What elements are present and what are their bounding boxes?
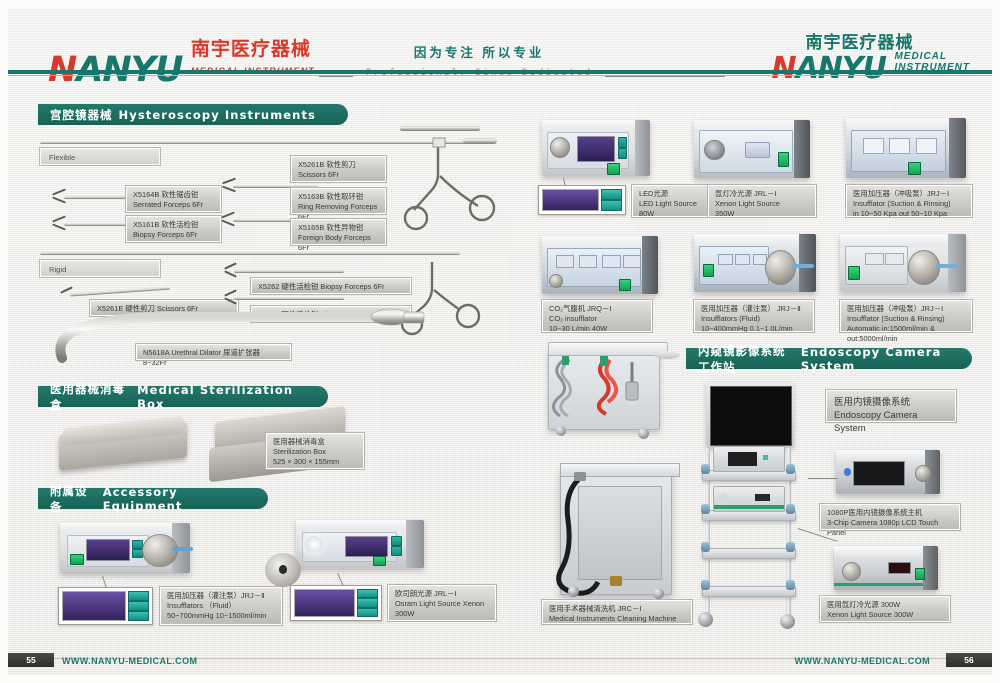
label-insuff-suction1-spec: in 10~50 Kpa out 50~10 Kpa bbox=[853, 209, 965, 219]
label-osram-cn: 欧司朗光源 JRL－Ⅰ bbox=[395, 589, 489, 599]
label-insufflator-fluid: 医用加压器（灌注泵）JRJ－Ⅱ Insufflators （Fluid） 50~… bbox=[160, 587, 282, 625]
label-insuff-suction1-en: Insufflator (Suction & Rinsing) bbox=[853, 199, 965, 209]
label-osram-light-source: 欧司朗光源 JRL－Ⅰ Osram Light Source Xenon 300… bbox=[388, 585, 496, 621]
label-camera-system-main-en: Endoscopy Camera System bbox=[834, 409, 948, 435]
device-xenon-light-source bbox=[694, 120, 810, 178]
device-insufflator-fluid-2 bbox=[694, 234, 816, 292]
label-serrated-forceps: X5164B 软性锯齿钳 Serrated Forceps 6Fr bbox=[126, 186, 221, 212]
label-xenon-cn: 氙灯冷光源 JRL－Ⅰ bbox=[715, 189, 809, 199]
label-cleaning-machine: 医用手术器械清洗机 JRC－Ⅰ Medical Instruments Clea… bbox=[542, 600, 692, 624]
label-insuff-suction1-cn: 医用加压器（冲吸泵）JRJ－Ⅰ bbox=[853, 189, 965, 199]
label-insufflator-suction-1: 医用加压器（冲吸泵）JRJ－Ⅰ Insufflator (Suction & R… bbox=[846, 185, 972, 217]
footer-url-left: WWW.NANYU-MEDICAL.COM bbox=[62, 656, 197, 666]
label-serrated-forceps-en: Serrated Forceps 6Fr bbox=[133, 200, 214, 210]
instrument-ring-handle-shaft bbox=[400, 126, 480, 131]
page-number-left: 55 bbox=[8, 653, 54, 667]
label-urethral-dilator: N5618A Urethral Dilator 尿道扩张器 8~32Fr bbox=[136, 344, 291, 360]
label-xenon-300w-cn: 医用氙灯冷光源 300W bbox=[827, 600, 943, 610]
sterilization-box-closed bbox=[53, 418, 193, 476]
section-banner-hysteroscopy-cn: 宫腔镜器械 bbox=[50, 107, 113, 123]
logo-right-sub-1: MEDICAL bbox=[894, 51, 947, 62]
label-camera-control-unit: 1080P医用内镜摄像系统主机 3-Chip Camera 1080p LCD … bbox=[820, 504, 960, 530]
header-green-bar-thin bbox=[8, 75, 992, 76]
label-sterilization-box-cn: 医用器械消毒盒 bbox=[273, 437, 357, 447]
label-insufflator-fluid-2: 医用加压器（灌注泵） JRJ－Ⅱ Insufflators (Fluid) 10… bbox=[694, 300, 814, 332]
label-ring-forceps-cn: X5163B 软性取环钳 bbox=[298, 192, 379, 202]
label-insufflator-fluid-cn: 医用加压器（灌注泵）JRJ－Ⅱ bbox=[167, 591, 275, 601]
section-banner-accessory: 附属设备 Accessory Equipment bbox=[38, 488, 268, 509]
label-camera-unit-cn: 1080P医用内镜摄像系统主机 bbox=[827, 508, 953, 518]
catalog-page: NANYU 南宇医疗器械 MEDICAL INSTRUMENT 因为专注 所以专… bbox=[0, 0, 1000, 683]
label-insuff-fluid2-cn: 医用加压器（灌注泵） JRJ－Ⅱ bbox=[701, 304, 807, 314]
detail-panel-osram bbox=[290, 585, 382, 621]
header-green-bar bbox=[8, 70, 992, 74]
label-insuff-suction2-en: Insufflator (Suction & Rinsing) bbox=[847, 314, 965, 324]
device-xenon-300w bbox=[834, 546, 938, 590]
section-banner-hysteroscopy: 宫腔镜器械 Hysteroscopy Instruments bbox=[38, 104, 348, 125]
label-insufflator-fluid-spec: 50~700mmHg 10~1500ml/min bbox=[167, 611, 275, 621]
label-biopsy-forceps-soft-cn: X5161B 软性活检钳 bbox=[133, 220, 214, 230]
page-number-right: 56 bbox=[946, 653, 992, 667]
instrument-ring-handle-scissors bbox=[400, 136, 510, 236]
section-banner-camera-system: 内窥镜影像系统工作站 Endoscopy Camera System bbox=[686, 348, 972, 369]
device-camera-control-unit bbox=[836, 450, 940, 494]
section-banner-camera-cn: 内窥镜影像系统工作站 bbox=[698, 343, 795, 375]
label-serrated-forceps-cn: X5164B 软性锯齿钳 bbox=[133, 190, 214, 200]
light-guide-adapter bbox=[265, 553, 301, 587]
label-foreign-body-forceps-en: Foreign Body Forceps 6Fr bbox=[298, 233, 379, 253]
label-camera-unit-en: 3-Chip Camera 1080p LCD Touch Panel bbox=[827, 518, 953, 538]
device-osram-light-source bbox=[296, 520, 424, 568]
device-insufflator-suction-2 bbox=[840, 234, 966, 292]
label-insuff-suction2-spec: Automatic in:1500ml/min & out:5000ml/min bbox=[847, 324, 965, 344]
instrument-rod-mid bbox=[40, 252, 460, 255]
label-camera-system-main: 医用内镜摄像系统 Endoscopy Camera System bbox=[826, 390, 956, 422]
label-foreign-body-forceps-cn: X5165B 软性异物钳 bbox=[298, 223, 379, 233]
section-banner-sterilization: 医用器械消毒盒 Medical Sterilization Box bbox=[38, 386, 328, 407]
label-osram-spec: 300W bbox=[395, 609, 489, 619]
device-led-light-source bbox=[542, 120, 650, 176]
cleaning-machine-hoses bbox=[548, 354, 668, 434]
label-sterilization-box: 医用器械消毒盒 Sterilization Box 525 × 300 × 15… bbox=[266, 433, 364, 469]
label-insuff-fluid2-en: Insufflators (Fluid) bbox=[701, 314, 807, 324]
section-banner-accessory-en: Accessory Equipment bbox=[103, 485, 252, 513]
label-osram-en: Osram Light Source Xenon bbox=[395, 599, 489, 609]
logo-right-wordmark: NANYU bbox=[771, 51, 886, 86]
label-rigid-biopsy-1: X5262 硬性活检钳 Biopsy Forceps 6Fr bbox=[251, 278, 411, 294]
label-insuff-fluid2-spec: 10~400mmHg 0.1~1.0L/min bbox=[701, 324, 807, 334]
device-insufflator-suction-1 bbox=[846, 118, 966, 178]
label-co2-insufflator: CO₂气腹机 JRQ－Ⅰ CO₂ insufflator 10~30 L/min… bbox=[542, 300, 652, 332]
label-co2-cn: CO₂气腹机 JRQ－Ⅰ bbox=[549, 304, 645, 314]
section-banner-sterilization-en: Medical Sterilization Box bbox=[137, 383, 312, 411]
device-insufflator-fluid bbox=[60, 523, 190, 573]
label-co2-spec: 10~30 L/min 40W bbox=[549, 324, 645, 334]
label-xenon-300w: 医用氙灯冷光源 300W Xenon Light Source 300W bbox=[820, 596, 950, 622]
label-insufflator-fluid-en: Insufflators （Fluid） bbox=[167, 601, 275, 611]
label-cleaning-machine-cn: 医用手术器械清洗机 JRC－Ⅰ bbox=[549, 604, 685, 614]
label-cleaning-machine-en: Medical Instruments Cleaning Machine bbox=[549, 614, 685, 624]
label-xenon-spec: 350W bbox=[715, 209, 809, 219]
label-insuff-suction2-cn: 医用加压器（冲吸泵）JRJ－Ⅰ bbox=[847, 304, 965, 314]
cleaning-machine-black-hose bbox=[548, 470, 678, 600]
section-banner-camera-en: Endoscopy Camera System bbox=[801, 345, 956, 373]
detail-panel-insufflator bbox=[58, 587, 153, 625]
page-footer: 55 WWW.NANYU-MEDICAL.COM WWW.NANYU-MEDIC… bbox=[8, 645, 992, 675]
logo-left: NANYU 南宇医疗器械 MEDICAL INSTRUMENT 因为专注 所以专… bbox=[48, 34, 725, 88]
label-ring-forceps: X5163B 软性取环钳 Ring Removing Forceps 6Fr bbox=[291, 188, 386, 214]
group-tag-rigid: Rigid bbox=[40, 260, 160, 277]
label-xenon-en: Xenon Light Source bbox=[715, 199, 809, 209]
label-sterilization-box-size: 525 × 300 × 155mm bbox=[273, 457, 357, 467]
label-scissors-soft-en: Scissors 6Fr bbox=[298, 170, 379, 180]
label-scissors-soft-cn: X5261B 软性剪刀 bbox=[298, 160, 379, 170]
detail-panel-led bbox=[538, 185, 626, 215]
leader-line-camera-unit bbox=[808, 478, 838, 479]
logo-right-cn: 南宇医疗器械 bbox=[805, 33, 913, 52]
section-banner-accessory-cn: 附属设备 bbox=[50, 483, 97, 515]
section-banner-hysteroscopy-en: Hysteroscopy Instruments bbox=[119, 108, 317, 122]
label-sterilization-box-en: Sterilization Box bbox=[273, 447, 357, 457]
logo-left-cn: 南宇医疗器械 bbox=[191, 39, 311, 60]
catalog-spread: NANYU 南宇医疗器械 MEDICAL INSTRUMENT 因为专注 所以专… bbox=[8, 8, 992, 675]
label-co2-en: CO₂ insufflator bbox=[549, 314, 645, 324]
label-xenon-light-source: 氙灯冷光源 JRL－Ⅰ Xenon Light Source 350W bbox=[708, 185, 816, 217]
label-camera-system-main-cn: 医用内镜摄像系统 bbox=[834, 396, 948, 409]
label-biopsy-forceps-soft-en: Biopsy Forceps 6Fr bbox=[133, 230, 214, 240]
page-header: NANYU 南宇医疗器械 MEDICAL INSTRUMENT 因为专注 所以专… bbox=[8, 8, 992, 70]
label-foreign-body-forceps: X5165B 软性异物钳 Foreign Body Forceps 6Fr bbox=[291, 219, 386, 245]
label-scissors-soft: X5261B 软性剪刀 Scissors 6Fr bbox=[291, 156, 386, 182]
footer-url-right: WWW.NANYU-MEDICAL.COM bbox=[795, 656, 930, 666]
label-xenon-300w-en: Xenon Light Source 300W bbox=[827, 610, 943, 620]
label-biopsy-forceps-soft: X5161B 软性活检钳 Biopsy Forceps 6Fr bbox=[126, 216, 221, 242]
section-banner-sterilization-cn: 医用器械消毒盒 bbox=[50, 381, 131, 413]
group-tag-flexible: Flexible bbox=[40, 148, 160, 165]
slogan-cn: 因为专注 所以专业 bbox=[414, 46, 544, 60]
label-insufflator-suction-2: 医用加压器（冲吸泵）JRJ－Ⅰ Insufflator (Suction & R… bbox=[840, 300, 972, 332]
device-co2-insufflator bbox=[542, 236, 658, 294]
